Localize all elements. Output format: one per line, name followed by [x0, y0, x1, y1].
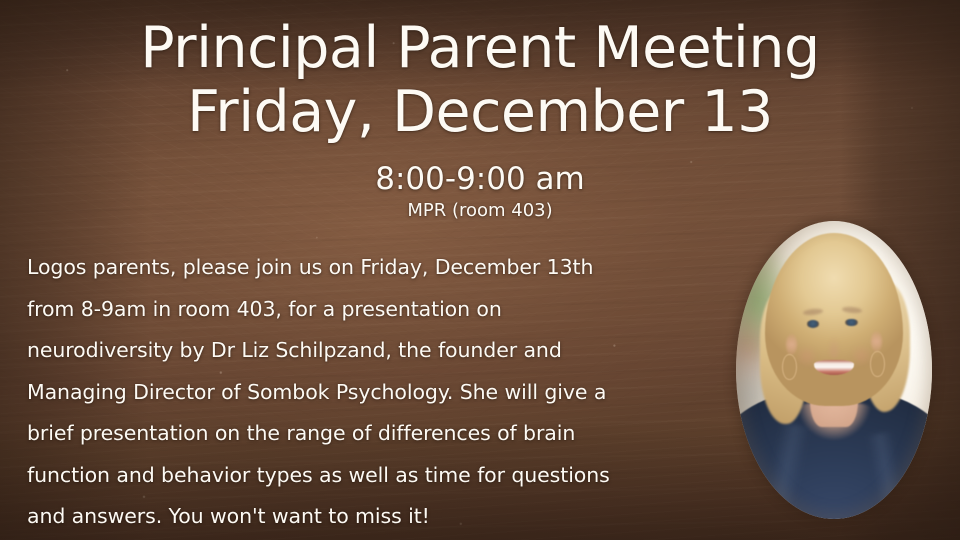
speaker-portrait	[736, 221, 932, 519]
body-line: Managing Director of Sombok Psychology. …	[27, 372, 717, 414]
meeting-time: 8:00-9:00 am	[0, 161, 960, 197]
portrait-ear-right	[871, 331, 882, 352]
body-line: from 8-9am in room 403, for a presentati…	[27, 289, 717, 331]
body-line: function and behavior types as well as t…	[27, 455, 717, 497]
portrait-eye-right	[845, 319, 858, 327]
flyer-slide: Principal Parent Meeting Friday, Decembe…	[0, 0, 960, 540]
body-line: Logos parents, please join us on Friday,…	[27, 247, 717, 289]
body-line: neurodiversity by Dr Liz Schilpzand, the…	[27, 330, 717, 372]
portrait-nose	[827, 337, 841, 358]
meeting-location: MPR (room 403)	[0, 199, 960, 223]
headline-block: Principal Parent Meeting Friday, Decembe…	[0, 16, 960, 144]
body-paragraph: Logos parents, please join us on Friday,…	[27, 247, 717, 538]
body-line: brief presentation on the range of diffe…	[27, 413, 717, 455]
portrait-eye-left	[807, 320, 820, 328]
headline-line-1: Principal Parent Meeting	[0, 16, 960, 80]
body-line: and answers. You won't want to miss it!	[27, 496, 717, 538]
headline-line-2: Friday, December 13	[0, 80, 960, 144]
